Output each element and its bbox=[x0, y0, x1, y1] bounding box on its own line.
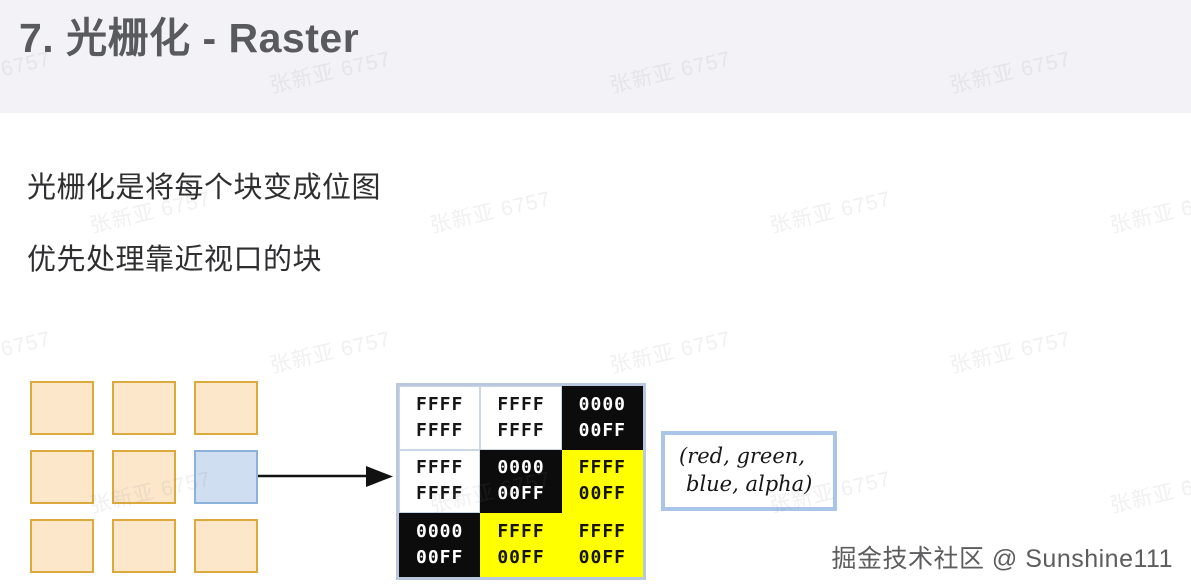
pixel-value-lo: 00FF bbox=[579, 545, 626, 571]
pixel-cell-r2c1: FFFF FFFF bbox=[399, 450, 480, 514]
pixel-value-hi: FFFF bbox=[497, 392, 544, 418]
layer-tile-grid bbox=[30, 381, 262, 573]
pixel-value-hi: FFFF bbox=[497, 519, 544, 545]
tile-r2c3-selected bbox=[194, 450, 258, 504]
pixel-value-lo: FFFF bbox=[497, 418, 544, 444]
pixel-cell-r1c3: 0000 00FF bbox=[562, 386, 643, 450]
pixel-value-lo: 00FF bbox=[416, 545, 463, 571]
arrow-right-icon bbox=[258, 462, 393, 490]
watermark-text: 张新亚 6757 bbox=[267, 323, 394, 380]
tile-r1c2 bbox=[112, 381, 176, 435]
pixel-cell-r1c1: FFFF FFFF bbox=[399, 386, 480, 450]
pixel-cell-r3c2: FFFF 00FF bbox=[480, 513, 561, 577]
watermark-text: 张新亚 6757 bbox=[1107, 463, 1191, 520]
tile-r3c2 bbox=[112, 519, 176, 573]
body-text-line-2: 优先处理靠近视口的块 bbox=[27, 236, 322, 278]
pixel-value-lo: FFFF bbox=[416, 481, 463, 507]
pixel-value-hi: FFFF bbox=[416, 455, 463, 481]
watermark-text: 张新亚 6757 bbox=[767, 183, 894, 240]
watermark-text: 张新亚 6757 bbox=[427, 183, 554, 240]
pixel-cell-r2c3: FFFF 00FF bbox=[562, 450, 643, 514]
rgba-note-box: (red, green, blue, alpha) bbox=[661, 431, 837, 511]
watermark-text: 张新亚 6757 bbox=[947, 323, 1074, 380]
pixel-value-hi: 0000 bbox=[416, 519, 463, 545]
credit-text: 掘金技术社区 @ Sunshine111 bbox=[831, 539, 1173, 575]
tile-r1c1 bbox=[30, 381, 94, 435]
rgba-note-line-2: blue, alpha) bbox=[679, 471, 812, 499]
pixel-value-lo: 00FF bbox=[497, 481, 544, 507]
tile-r2c1 bbox=[30, 450, 94, 504]
body-text-line-1: 光栅化是将每个块变成位图 bbox=[27, 164, 381, 206]
pixel-value-lo: 00FF bbox=[579, 418, 626, 444]
watermark-text: 张新亚 6757 bbox=[0, 323, 54, 380]
pixel-value-lo: FFFF bbox=[416, 418, 463, 444]
watermark-text: 张新亚 6757 bbox=[1107, 183, 1191, 240]
pixel-cell-r1c2: FFFF FFFF bbox=[480, 386, 561, 450]
pixel-value-lo: 00FF bbox=[497, 545, 544, 571]
pixel-cell-r3c3: FFFF 00FF bbox=[562, 513, 643, 577]
tile-r3c1 bbox=[30, 519, 94, 573]
tile-r1c3 bbox=[194, 381, 258, 435]
watermark-text: 张新亚 6757 bbox=[607, 323, 734, 380]
rgba-note-line-1: (red, green, bbox=[679, 443, 805, 471]
pixel-value-hi: FFFF bbox=[579, 519, 626, 545]
bitmap-pixel-grid: FFFF FFFF FFFF FFFF 0000 00FF FFFF FFFF … bbox=[396, 383, 646, 580]
pixel-value-hi: FFFF bbox=[416, 392, 463, 418]
pixel-value-lo: 00FF bbox=[579, 481, 626, 507]
pixel-cell-r2c2: 0000 00FF bbox=[480, 450, 561, 514]
slide-canvas: 7. 光栅化 - Raster 光栅化是将每个块变成位图 优先处理靠近视口的块 … bbox=[0, 0, 1191, 584]
page-title: 7. 光栅化 - Raster bbox=[19, 14, 359, 63]
tile-r3c3 bbox=[194, 519, 258, 573]
pixel-value-hi: 0000 bbox=[497, 455, 544, 481]
pixel-value-hi: 0000 bbox=[579, 392, 626, 418]
pixel-value-hi: FFFF bbox=[579, 455, 626, 481]
tile-r2c2 bbox=[112, 450, 176, 504]
pixel-cell-r3c1: 0000 00FF bbox=[399, 513, 480, 577]
